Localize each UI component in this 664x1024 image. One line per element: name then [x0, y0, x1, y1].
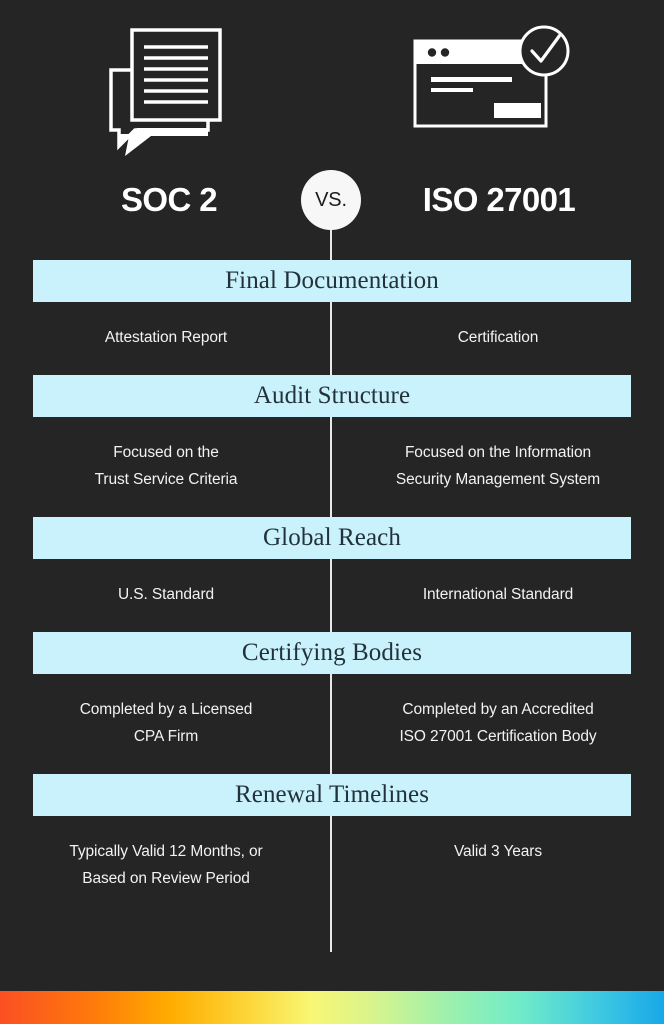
- row-3-left-value: Completed by a LicensedCPA Firm: [0, 674, 332, 774]
- row-global-reach: U.S. Standard International Standard: [0, 559, 664, 632]
- row-renewal-timelines: Typically Valid 12 Months, orBased on Re…: [0, 816, 664, 916]
- row-heading-global-reach: Global Reach: [33, 517, 631, 559]
- row-heading-audit-structure: Audit Structure: [33, 375, 631, 417]
- infographic-header: SOC 2 VS. ISO 27001: [0, 0, 664, 260]
- row-final-documentation: Attestation Report Certification: [0, 302, 664, 375]
- row-heading-certifying-bodies: Certifying Bodies: [33, 632, 631, 674]
- right-standard-title: ISO 27001: [349, 176, 649, 224]
- row-heading-final-documentation: Final Documentation: [33, 260, 631, 302]
- brand-row: SOC 2 VS. ISO 27001: [0, 176, 664, 236]
- row-3-right-value: Completed by an AccreditedISO 27001 Cert…: [332, 674, 664, 774]
- vs-badge: VS.: [301, 170, 361, 230]
- row-audit-structure: Focused on theTrust Service Criteria Foc…: [0, 417, 664, 517]
- row-0-right-value: Certification: [332, 302, 664, 375]
- row-2-right-value: International Standard: [332, 559, 664, 632]
- row-certifying-bodies: Completed by a LicensedCPA Firm Complete…: [0, 674, 664, 774]
- row-1-left-value: Focused on theTrust Service Criteria: [0, 417, 332, 517]
- soc2-vs-iso27001-infographic: SOC 2 VS. ISO 27001 Final Documentation …: [0, 0, 664, 1024]
- row-0-left-value: Attestation Report: [0, 302, 332, 375]
- row-4-right-value: Valid 3 Years: [332, 816, 664, 916]
- footer-gradient-bar: [0, 991, 664, 1024]
- left-standard-title: SOC 2: [19, 176, 319, 224]
- stacked-documents-speech-bubble-icon: [103, 24, 233, 159]
- browser-window-checkmark-icon: [412, 24, 582, 144]
- comparison-rows: Final Documentation Attestation Report C…: [0, 260, 664, 916]
- row-heading-renewal-timelines: Renewal Timelines: [33, 774, 631, 816]
- row-2-left-value: U.S. Standard: [0, 559, 332, 632]
- row-1-right-value: Focused on the InformationSecurity Manag…: [332, 417, 664, 517]
- row-4-left-value: Typically Valid 12 Months, orBased on Re…: [0, 816, 332, 916]
